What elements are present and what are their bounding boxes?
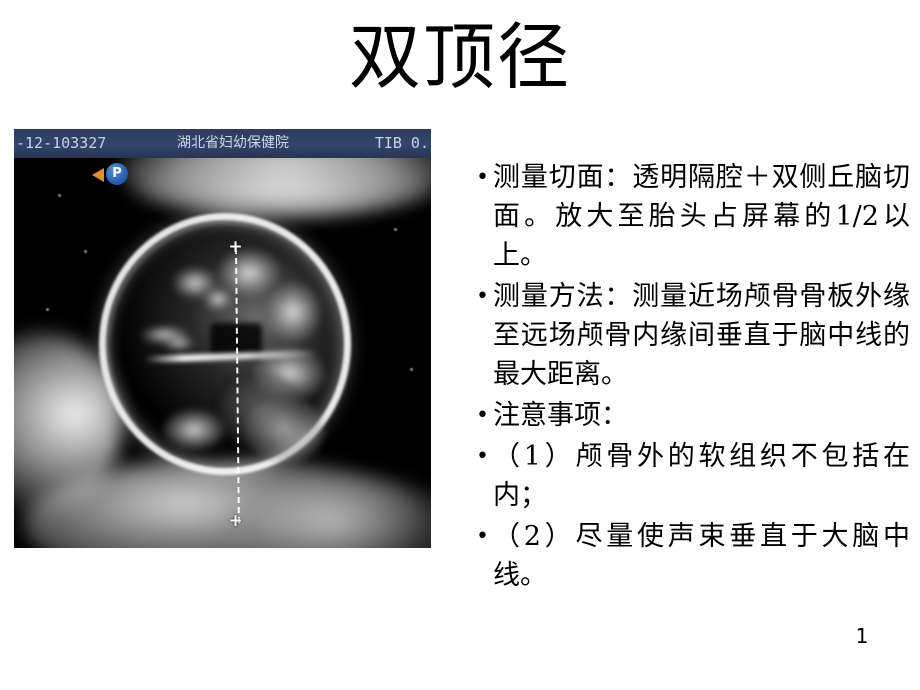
content-placeholder: 测量切面：透明隔腔＋双侧丘脑切面。放大至胎头占屏幕的1/2以上。 测量方法：测量…: [462, 158, 910, 597]
ultrasound-hospital-name: 湖北省妇幼保健院: [177, 129, 289, 158]
slide-canvas: 双顶径 -12-103327 湖北省妇幼保健院 TIB 0.: [0, 0, 920, 690]
speckle-noise-dot: [58, 194, 61, 197]
list-item-text: （2）尽量使声束垂直于大脑中线。: [493, 517, 910, 595]
list-item: （2）尽量使声束垂直于大脑中线。: [462, 517, 910, 595]
page-title: 双顶径: [0, 14, 920, 100]
ultrasound-scan-area: + + P: [14, 158, 431, 548]
speckle-noise-dot: [394, 228, 397, 231]
brain-echo-speckle: [266, 283, 320, 341]
ultrasound-thermal-index: TIB 0.: [375, 129, 429, 158]
speckle-noise-dot: [410, 368, 413, 371]
caliper-bottom-marker: +: [228, 514, 243, 529]
bullet-marker-icon: [462, 396, 493, 435]
list-item-text: 测量方法：测量近场颅骨骨板外缘至远场颅骨内缘间垂直于脑中线的最大距离。: [493, 277, 910, 394]
list-item: 注意事项：: [462, 396, 910, 435]
caliper-top-marker: +: [228, 240, 243, 255]
orientation-triangle-icon: [92, 168, 104, 182]
bullet-marker-icon: [462, 437, 493, 476]
list-item-text: （1）颅骨外的软组织不包括在内；: [493, 437, 910, 515]
list-item: 测量切面：透明隔腔＋双侧丘脑切面。放大至胎头占屏幕的1/2以上。: [462, 158, 910, 275]
list-item: 测量方法：测量近场颅骨骨板外缘至远场颅骨内缘间垂直于脑中线的最大距离。: [462, 277, 910, 394]
thalamus-region: [219, 373, 309, 451]
brain-echo-speckle: [204, 288, 232, 310]
page-number: 1: [850, 624, 874, 648]
brain-echo-speckle: [164, 336, 194, 350]
speckle-noise-dot: [84, 250, 87, 253]
list-item-text: 注意事项：: [493, 396, 910, 435]
maternal-tissue-top-secondary: [134, 168, 431, 212]
list-item: （1）颅骨外的软组织不包括在内；: [462, 437, 910, 515]
brain-echo-speckle: [164, 410, 224, 450]
list-item-text: 测量切面：透明隔腔＋双侧丘脑切面。放大至胎头占屏幕的1/2以上。: [493, 158, 910, 275]
bullet-marker-icon: [462, 158, 493, 197]
ultrasound-header-bar: -12-103327 湖北省妇幼保健院 TIB 0.: [14, 129, 431, 158]
ultrasound-image: -12-103327 湖北省妇幼保健院 TIB 0.: [14, 129, 431, 548]
ultrasound-study-id: -12-103327: [16, 129, 106, 158]
bullet-marker-icon: [462, 277, 493, 316]
bullet-marker-icon: [462, 517, 493, 556]
speckle-noise-dot: [46, 308, 49, 311]
probe-position-badge: P: [106, 163, 128, 185]
